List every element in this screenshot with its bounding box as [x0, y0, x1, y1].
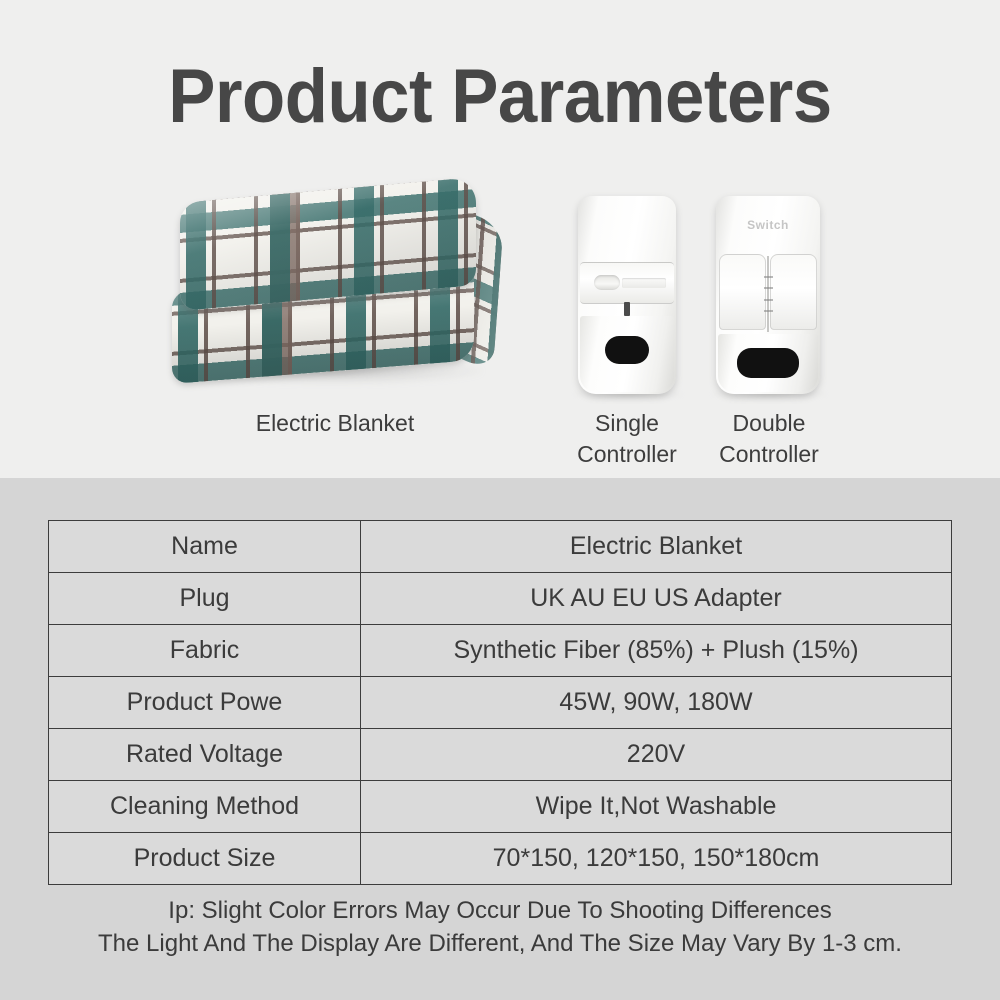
page-title: Product Parameters	[35, 56, 965, 138]
spec-label: Product Powe	[49, 677, 361, 729]
table-row: Fabric Synthetic Fiber (85%) + Plush (15…	[49, 625, 952, 677]
spec-label: Product Size	[49, 833, 361, 885]
single-controller-display	[605, 336, 649, 364]
panel-tick-marks	[764, 276, 773, 312]
double-controller-display	[737, 348, 799, 378]
footnote-line-2: The Light And The Display Are Different,…	[0, 927, 1000, 960]
table-row: Cleaning Method Wipe It,Not Washable	[49, 781, 952, 833]
caption-electric-blanket: Electric Blanket	[180, 408, 490, 439]
spec-value: Wipe It,Not Washable	[361, 781, 952, 833]
single-controller-image	[578, 196, 676, 394]
table-row: Name Electric Blanket	[49, 521, 952, 573]
table-row: Product Powe 45W, 90W, 180W	[49, 677, 952, 729]
spec-label: Cleaning Method	[49, 781, 361, 833]
table-row: Product Size 70*150, 120*150, 150*180cm	[49, 833, 952, 885]
caption-line-1: Single	[548, 408, 706, 439]
single-controller-slider-band	[580, 262, 674, 304]
spec-label: Fabric	[49, 625, 361, 677]
double-controller-emboss: Switch	[716, 218, 820, 232]
switch-panel-right	[770, 254, 817, 330]
single-controller-lower-body	[580, 316, 674, 392]
electric-blanket-image	[160, 162, 505, 402]
spec-value: 70*150, 120*150, 150*180cm	[361, 833, 952, 885]
caption-line-1: Double	[690, 408, 848, 439]
hero-section: Product Parameters	[0, 0, 1000, 478]
spec-value: 220V	[361, 729, 952, 781]
spec-value: 45W, 90W, 180W	[361, 677, 952, 729]
spec-value: UK AU EU US Adapter	[361, 573, 952, 625]
caption-line-2: Controller	[548, 439, 706, 470]
spec-value: Electric Blanket	[361, 521, 952, 573]
switch-panel-left	[719, 254, 766, 330]
table-row: Plug UK AU EU US Adapter	[49, 573, 952, 625]
footnote-line-1: Ip: Slight Color Errors May Occur Due To…	[0, 894, 1000, 927]
spec-table-body: Name Electric Blanket Plug UK AU EU US A…	[49, 521, 952, 885]
double-controller-image: Switch	[716, 196, 820, 394]
spec-section: Name Electric Blanket Plug UK AU EU US A…	[0, 478, 1000, 1000]
footnote: Ip: Slight Color Errors May Occur Due To…	[0, 894, 1000, 960]
double-controller-lower-body	[718, 334, 818, 392]
caption-line-2: Controller	[690, 439, 848, 470]
double-controller-switch-panels	[718, 254, 818, 330]
product-parameters-page: Product Parameters	[0, 0, 1000, 1000]
caption-double-controller: Double Controller	[690, 408, 848, 470]
table-row: Rated Voltage 220V	[49, 729, 952, 781]
single-controller-pin	[624, 302, 630, 316]
spec-label: Rated Voltage	[49, 729, 361, 781]
slider-rail	[622, 278, 666, 288]
spec-label: Plug	[49, 573, 361, 625]
spec-label: Name	[49, 521, 361, 573]
slider-knob	[594, 275, 620, 290]
caption-single-controller: Single Controller	[548, 408, 706, 470]
spec-value: Synthetic Fiber (85%) + Plush (15%)	[361, 625, 952, 677]
spec-table: Name Electric Blanket Plug UK AU EU US A…	[48, 520, 952, 885]
